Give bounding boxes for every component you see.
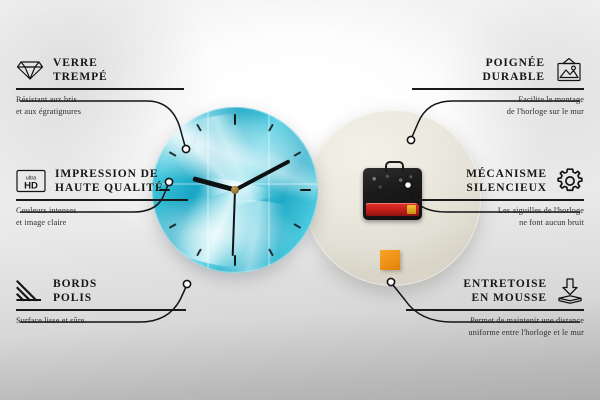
feature-description: Résistant aux bris et aux égratignures (16, 94, 184, 118)
feature-divider (16, 199, 188, 201)
feature-title: VERRE TREMPÉ (53, 56, 108, 84)
feature-title: IMPRESSION DE HAUTE QUALITÉ (55, 167, 164, 195)
svg-text:HD: HD (24, 180, 38, 191)
feature-title: MÉCANISME SILENCIEUX (466, 167, 547, 195)
hanging-handle (385, 161, 404, 172)
feature-description: Permet de maintenir une distance uniform… (406, 315, 584, 339)
hour-tick (234, 114, 236, 190)
hour-tick (235, 189, 311, 191)
feature-title: BORDS POLIS (53, 277, 97, 305)
hand-center-cap (231, 186, 239, 194)
diagonal-lines-icon (16, 279, 44, 303)
feature-header: MÉCANISME SILENCIEUX (408, 167, 584, 195)
feature-header: POIGNÉE DURABLE (412, 56, 584, 84)
feature-description: Facilite le montage de l'horloge sur le … (412, 94, 584, 118)
feature-header: ENTRETOISE EN MOUSSE (406, 277, 584, 305)
feature-description: Les aiguilles de l'horloge ne font aucun… (408, 205, 584, 229)
feature-description: Surface lisse et sûre (16, 315, 186, 327)
picture-frame-icon (554, 57, 584, 83)
foam-spacer (380, 250, 400, 270)
feature-header: VERRE TREMPÉ (16, 56, 184, 84)
feature-poignee-durable: POIGNÉE DURABLE Facilite le montage de l… (412, 56, 584, 117)
feature-bords-polis: BORDS POLIS Surface lisse et sûre (16, 277, 186, 327)
feature-title: ENTRETOISE EN MOUSSE (463, 277, 547, 305)
feature-impression-haute-qualite: ultra HD IMPRESSION DE HAUTE QUALITÉ Cou… (16, 167, 188, 228)
feature-header: BORDS POLIS (16, 277, 186, 305)
feature-description: Couleurs intenses et image claire (16, 205, 188, 229)
infographic-canvas: VERRE TREMPÉ Résistant aux bris et aux é… (0, 0, 600, 400)
gear-icon (556, 167, 584, 195)
feature-divider (16, 309, 186, 311)
feature-divider (406, 309, 584, 311)
arrow-down-stack-icon (556, 277, 584, 305)
feature-mecanisme-silencieux: MÉCANISME SILENCIEUX Les aiguilles de l'… (408, 167, 584, 228)
feature-divider (16, 88, 184, 90)
feature-verre-trempe: VERRE TREMPÉ Résistant aux bris et aux é… (16, 56, 184, 117)
feature-divider (408, 199, 584, 201)
feature-divider (412, 88, 584, 90)
diamond-icon (16, 59, 44, 81)
feature-header: ultra HD IMPRESSION DE HAUTE QUALITÉ (16, 167, 188, 195)
feature-title: POIGNÉE DURABLE (482, 56, 545, 84)
feature-entretoise-en-mousse: ENTRETOISE EN MOUSSE Permet de maintenir… (406, 277, 584, 338)
ultra-hd-icon: ultra HD (16, 168, 46, 194)
